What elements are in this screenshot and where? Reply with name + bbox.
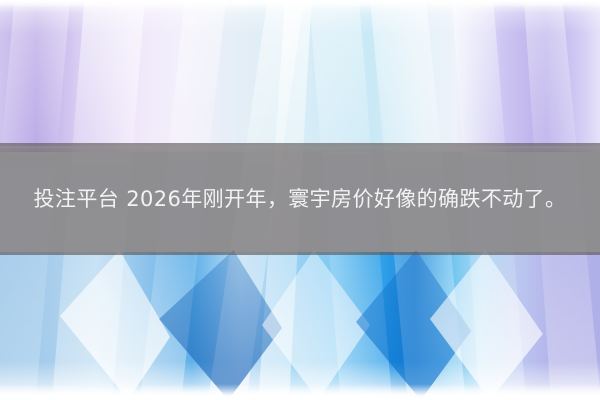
bottom-fade-strip (0, 384, 600, 400)
caption-text: 投注平台 2026年刚开年，寰宇房价好像的确跌不动了。 (20, 180, 580, 218)
caption-overlay-band: 投注平台 2026年刚开年，寰宇房价好像的确跌不动了。 (0, 143, 600, 255)
background-bottom-gradient (0, 252, 600, 400)
background-top-gradient (0, 0, 600, 152)
promo-banner: 投注平台 2026年刚开年，寰宇房价好像的确跌不动了。 (0, 0, 600, 400)
top-highlight-strip (0, 0, 600, 7)
